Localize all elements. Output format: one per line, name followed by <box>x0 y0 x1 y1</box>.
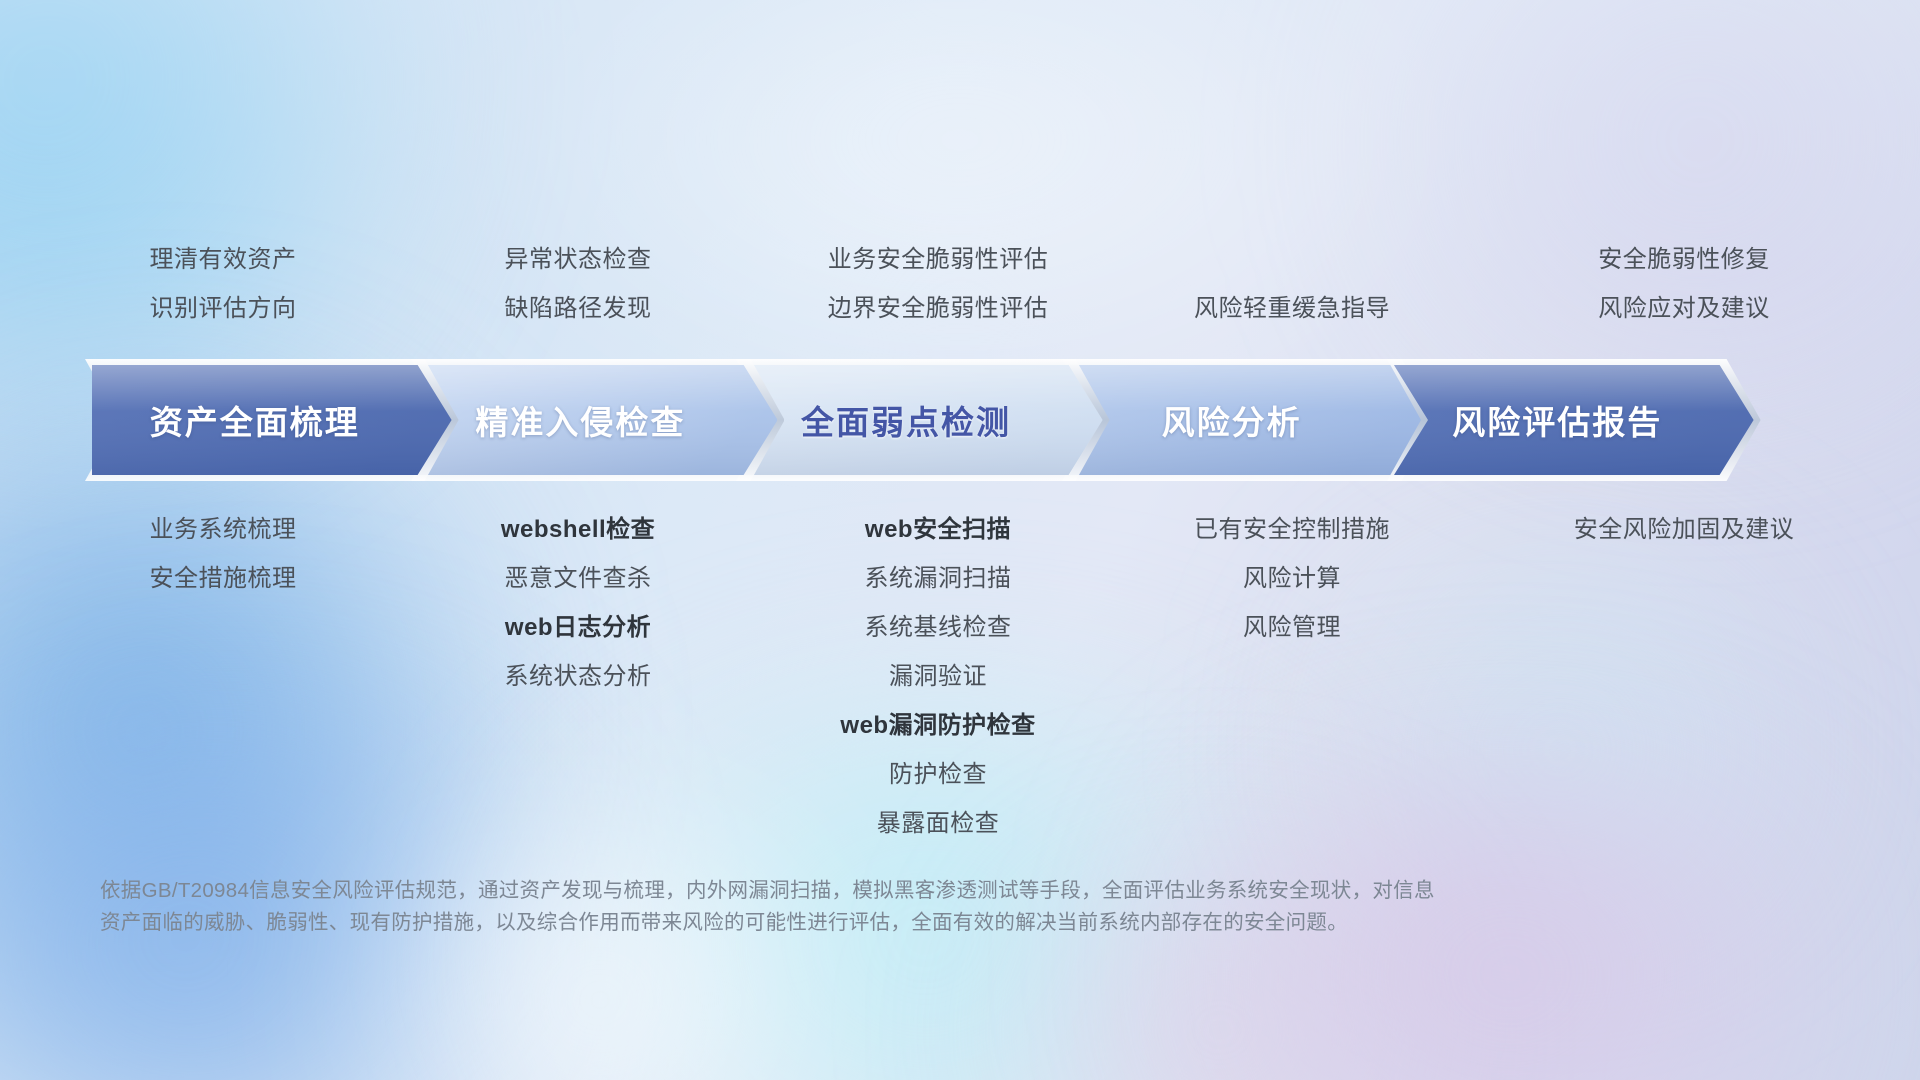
input-item: 风险轻重缓急指导 <box>1082 284 1502 333</box>
process-stage-assessment-report[interactable]: 风险评估报告 <box>1394 365 1754 475</box>
activity-item: 恶意文件查杀 <box>368 554 788 603</box>
input-item: 缺陷路径发现 <box>368 284 788 333</box>
activity-item: 风险计算 <box>1082 554 1502 603</box>
footer-description: 依据GB/T20984信息安全风险评估规范，通过资产发现与梳理，内外网漏洞扫描，… <box>100 875 1720 939</box>
stage-label-weakness-detection: 全面弱点检测 <box>743 396 1103 444</box>
activity-item: webshell检查 <box>368 505 788 554</box>
activity-item: 风险管理 <box>1082 603 1502 652</box>
activity-item: 安全风险加固及建议 <box>1474 505 1894 554</box>
activity-item: 漏洞验证 <box>728 652 1148 701</box>
stage-label-assessment-report: 风险评估报告 <box>1394 396 1754 444</box>
stage-label-intrusion-check: 精准入侵检查 <box>418 396 778 444</box>
stage-input-intrusion-check: 异常状态检查缺陷路径发现 <box>368 235 788 333</box>
activity-item: 防护检查 <box>728 750 1148 799</box>
activity-item: 暴露面检查 <box>728 799 1148 848</box>
input-item: 安全脆弱性修复 <box>1474 235 1894 284</box>
activity-item: web漏洞防护检查 <box>728 701 1148 750</box>
stage-input-risk-analysis: 风险轻重缓急指导 <box>1082 284 1502 333</box>
process-stage-intrusion-check[interactable]: 精准入侵检查 <box>418 365 778 475</box>
activity-item: 系统状态分析 <box>368 652 788 701</box>
process-stage-asset-review[interactable]: 资产全面梳理 <box>92 365 452 475</box>
input-item: 业务安全脆弱性评估 <box>728 235 1148 284</box>
footer-line-2: 资产面临的威胁、脆弱性、现有防护措施，以及综合作用而带来风险的可能性进行评估，全… <box>100 907 1720 939</box>
stage-input-assessment-report: 安全脆弱性修复风险应对及建议 <box>1474 235 1894 333</box>
input-item: 风险应对及建议 <box>1474 284 1894 333</box>
input-item: 异常状态检查 <box>368 235 788 284</box>
stage-label-asset-review: 资产全面梳理 <box>92 396 452 444</box>
process-stage-risk-analysis[interactable]: 风险分析 <box>1069 365 1429 475</box>
stage-activity-risk-analysis: 已有安全控制措施风险计算风险管理 <box>1082 505 1502 652</box>
process-arrow-band: 资产全面梳理精准入侵检查全面弱点检测风险分析风险评估报告 <box>92 365 1856 475</box>
stage-label-risk-analysis: 风险分析 <box>1069 396 1429 444</box>
stage-activity-intrusion-check: webshell检查恶意文件查杀web日志分析系统状态分析 <box>368 505 788 701</box>
stage-activity-assessment-report: 安全风险加固及建议 <box>1474 505 1894 554</box>
activity-item: 已有安全控制措施 <box>1082 505 1502 554</box>
process-stage-weakness-detection[interactable]: 全面弱点检测 <box>743 365 1103 475</box>
footer-line-1: 依据GB/T20984信息安全风险评估规范，通过资产发现与梳理，内外网漏洞扫描，… <box>100 875 1720 907</box>
diagram-root: 理清有效资产识别评估方向异常状态检查缺陷路径发现业务安全脆弱性评估边界安全脆弱性… <box>0 0 1920 1080</box>
activity-item: web日志分析 <box>368 603 788 652</box>
